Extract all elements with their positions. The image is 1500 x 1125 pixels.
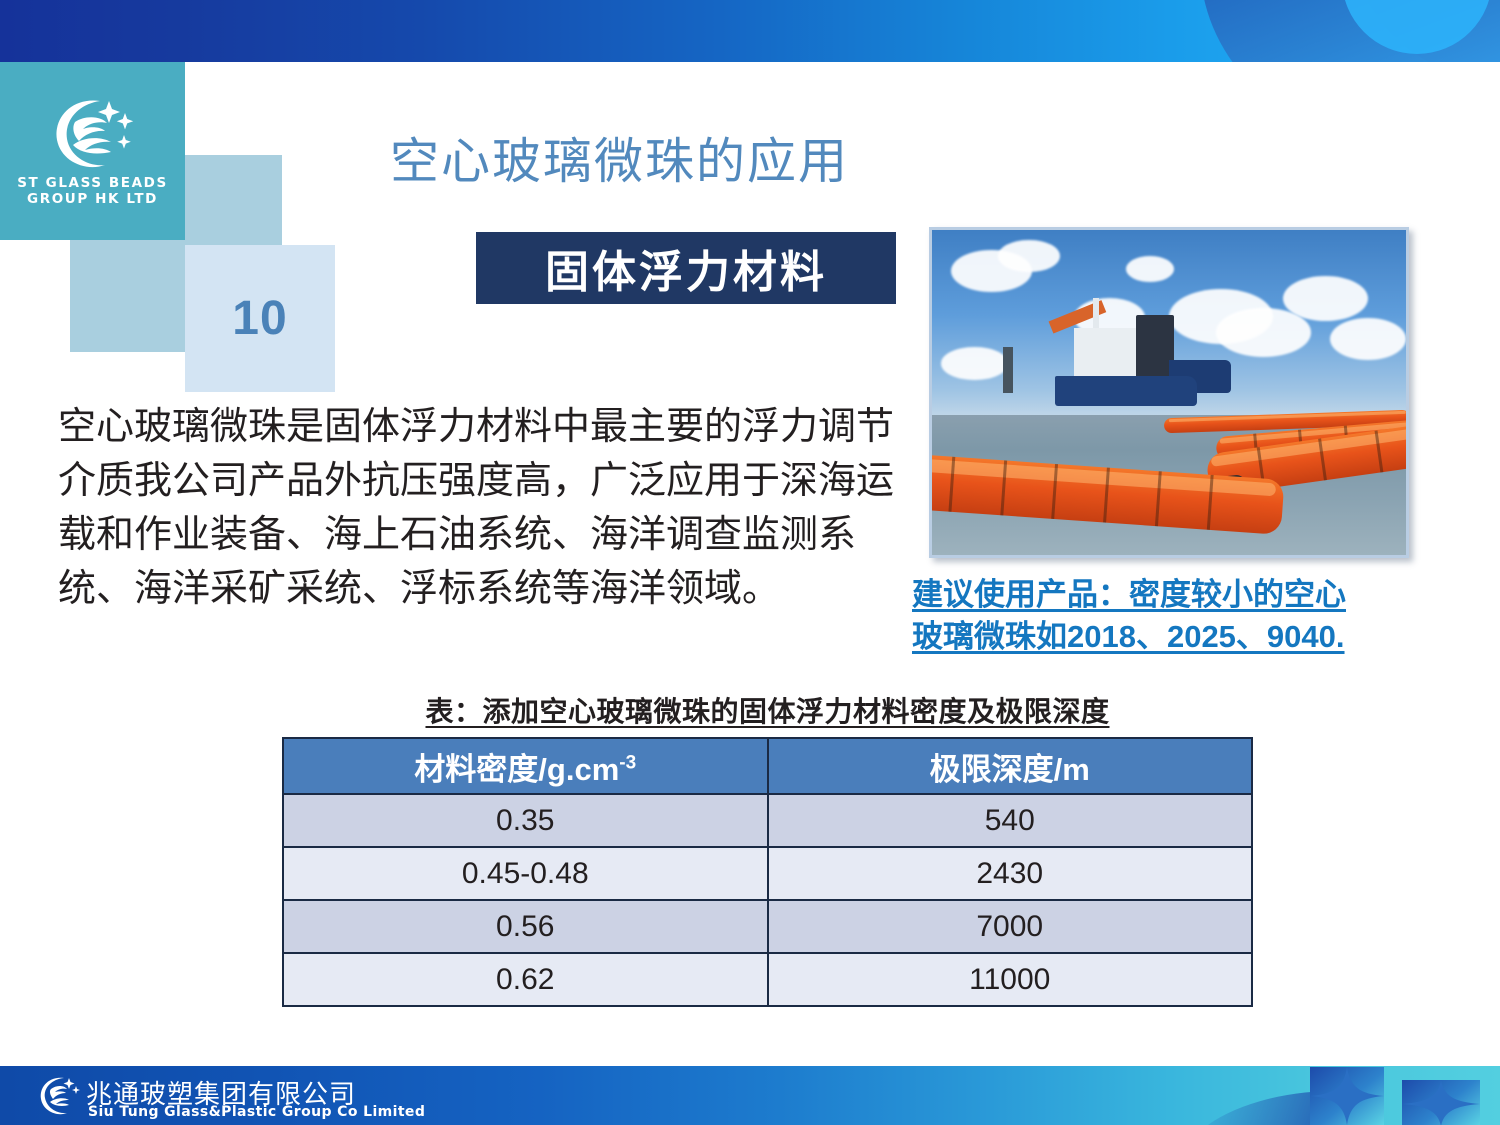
cell-depth: 2430 — [768, 847, 1253, 900]
table-row: 0.35 540 — [283, 794, 1252, 847]
cell-density: 0.35 — [283, 794, 768, 847]
footer-sparkle-icon-2 — [1402, 1080, 1480, 1125]
table-header-depth: 极限深度/m — [768, 738, 1253, 794]
photo-ship-crane — [1003, 347, 1012, 393]
table-row: 0.45-0.48 2430 — [283, 847, 1252, 900]
body-paragraph: 空心玻璃微珠是固体浮力材料中最主要的浮力调节介质我公司产品外抗压强度高，广泛应用… — [58, 400, 898, 616]
table-row: 0.56 7000 — [283, 900, 1252, 953]
photo-cloud — [1283, 276, 1368, 322]
marine-buoyancy-photo — [929, 227, 1409, 558]
decor-square-lower-left — [70, 240, 185, 352]
section-badge-label: 固体浮力材料 — [545, 236, 827, 300]
photo-cloud — [998, 240, 1060, 273]
footer-sparkle-icon — [1310, 1067, 1384, 1125]
logo-name-line-1: ST GLASS BEADS — [17, 175, 168, 191]
photo-cloud — [1330, 318, 1406, 360]
photo-ship-hull — [1055, 376, 1197, 405]
footer-logo-icon — [36, 1074, 80, 1118]
recommendation-note-line-1: 建议使用产品：密度较小的空心 — [912, 577, 1346, 612]
table-header-density: 材料密度/g.cm-3 — [283, 738, 768, 794]
cell-density: 0.45-0.48 — [283, 847, 768, 900]
recommendation-note: 建议使用产品：密度较小的空心 玻璃微珠如2018、2025、9040. — [912, 574, 1457, 658]
cell-density: 0.56 — [283, 900, 768, 953]
density-depth-table: 材料密度/g.cm-3 极限深度/m 0.35 540 0.45-0.48 24… — [282, 737, 1253, 1007]
footer-bar: 兆通玻塑集团有限公司 Siu Tung Glass&Plastic Group … — [0, 1066, 1500, 1125]
company-logo-block: ST GLASS BEADS GROUP HK LTD — [0, 62, 185, 240]
photo-cloud — [941, 347, 1007, 380]
slide-title: 空心玻璃微珠的应用 — [390, 122, 849, 193]
top-banner — [0, 0, 1500, 62]
photo-cloud — [1126, 256, 1173, 282]
cell-depth: 540 — [768, 794, 1253, 847]
page-number: 10 — [185, 245, 335, 392]
table-head: 材料密度/g.cm-3 极限深度/m — [283, 738, 1252, 794]
table-body: 0.35 540 0.45-0.48 2430 0.56 7000 0.62 1… — [283, 794, 1252, 1006]
slide-root: 10 ST GLASS BEADS GROUP HK LTD 空心玻璃微珠的应用… — [0, 0, 1500, 1125]
table-header-density-sup: -3 — [619, 752, 636, 773]
logo-name-line-2: GROUP HK LTD — [17, 191, 168, 207]
table-header-density-text: 材料密度/g.cm — [414, 752, 619, 787]
cell-depth: 7000 — [768, 900, 1253, 953]
cell-density: 0.62 — [283, 953, 768, 1006]
photo-ship-superstructure — [1074, 328, 1145, 383]
cell-depth: 11000 — [768, 953, 1253, 1006]
logo-company-name: ST GLASS BEADS GROUP HK LTD — [17, 175, 168, 207]
footer-company-en: Siu Tung Glass&Plastic Group Co Limited — [88, 1104, 425, 1120]
table-caption: 表：添加空心玻璃微珠的固体浮力材料密度及极限深度 — [282, 690, 1253, 730]
section-badge: 固体浮力材料 — [473, 229, 899, 307]
recommendation-note-line-2: 玻璃微珠如2018、2025、9040. — [912, 619, 1345, 654]
table-header-row: 材料密度/g.cm-3 极限深度/m — [283, 738, 1252, 794]
glass-beads-logo-icon — [45, 95, 141, 173]
table-row: 0.62 11000 — [283, 953, 1252, 1006]
